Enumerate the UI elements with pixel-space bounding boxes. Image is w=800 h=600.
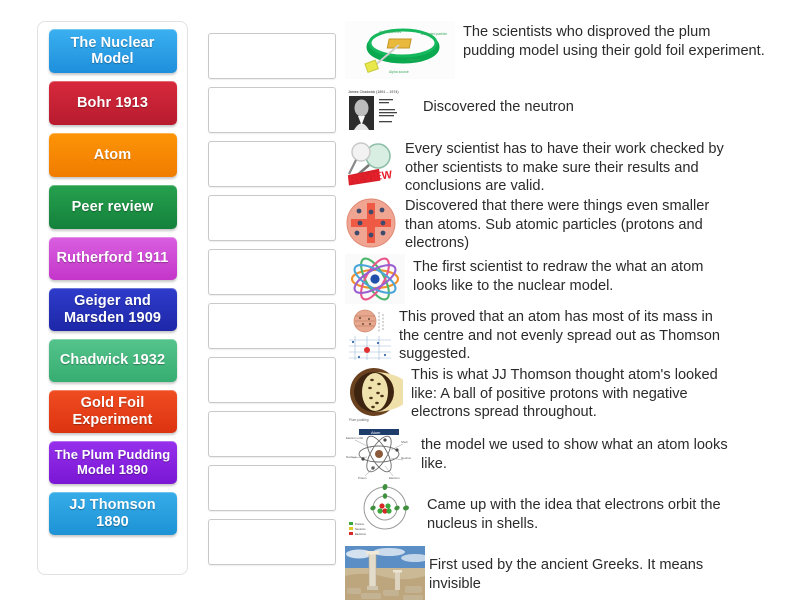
answer-text: Discovered the neutron — [415, 86, 715, 117]
svg-text:Nucleus: Nucleus — [346, 455, 357, 459]
answer-text: Discovered that there were things even s… — [397, 197, 727, 253]
svg-text:Neutrons: Neutrons — [355, 527, 366, 531]
svg-text:Electron orbit: Electron orbit — [346, 436, 363, 440]
answer-text: Every scientist has to have their work c… — [397, 140, 727, 196]
svg-text:Alpha particles: Alpha particles — [379, 30, 402, 34]
dropzone-10[interactable] — [208, 519, 336, 565]
ancient-greek-ruins-image — [345, 546, 425, 600]
answer-item-6[interactable]: This proved that an atom has most of its… — [345, 308, 785, 364]
tile-bohr-1913[interactable]: Bohr 1913 — [49, 81, 177, 125]
tile-the-nuclear-model[interactable]: The Nuclear Model — [49, 29, 177, 73]
answer-item-4[interactable]: Discovered that there were things even s… — [345, 197, 785, 252]
dropzone-7[interactable] — [208, 357, 336, 403]
answer-text: The scientists who disproved the plum pu… — [455, 21, 765, 60]
answer-text: The first scientist to redraw the what a… — [405, 254, 735, 295]
answer-text: Came up with the idea that electrons orb… — [419, 484, 739, 533]
answer-text: This is what JJ Thomson thought atom's l… — [403, 366, 743, 422]
plum-pudding-cake-image: Plum pudding — [345, 366, 403, 424]
answer-text: the model we used to show what an atom l… — [413, 428, 733, 473]
answer-list: Alpha particles Deflected particle Gold … — [345, 21, 785, 581]
gold-foil-experiment-diagram-image: Alpha particles Deflected particle Gold … — [345, 21, 455, 79]
tile-label: Geiger and Marsden 1909 — [54, 293, 172, 325]
peer-review-magnifier-image: REVIEW — [345, 140, 397, 192]
answer-item-10[interactable]: First used by the ancient Greeks. It mea… — [345, 546, 785, 600]
tile-label: JJ Thomson 1890 — [54, 497, 172, 529]
svg-text:Atom: Atom — [371, 430, 381, 435]
tile-label: Atom — [94, 147, 131, 163]
dropzone-2[interactable] — [208, 87, 336, 133]
svg-text:Electron: Electron — [389, 476, 400, 480]
answer-item-2[interactable]: James Chadwick (1891 – 1974) Disco — [345, 86, 785, 138]
tile-label: Gold Foil Experiment — [54, 395, 172, 427]
answer-item-3[interactable]: REVIEW Every scientist has to have their… — [345, 140, 785, 195]
svg-text:Neutron: Neutron — [401, 456, 412, 460]
tile-label: Rutherford 1911 — [57, 250, 169, 266]
tile-label: Peer review — [72, 199, 154, 215]
tile-label: The Plum Pudding Model 1890 — [54, 448, 172, 477]
labelled-atom-diagram-image: Atom — [345, 428, 413, 480]
svg-text:Shell: Shell — [401, 440, 408, 444]
dropzone-5[interactable] — [208, 249, 336, 295]
james-chadwick-portrait-image: James Chadwick (1891 – 1974) — [345, 86, 415, 134]
svg-text:Proton: Proton — [358, 476, 367, 480]
dropzone-3[interactable] — [208, 141, 336, 187]
answer-item-7[interactable]: Plum pudding This is what JJ Thomson tho… — [345, 366, 785, 426]
tile-chadwick-1932[interactable]: Chadwick 1932 — [49, 339, 177, 382]
svg-text:Gold foil: Gold foil — [407, 58, 420, 62]
tile-the-plum-pudding-model-1890[interactable]: The Plum Pudding Model 1890 — [49, 441, 177, 484]
dropzone-1[interactable] — [208, 33, 336, 79]
tile-jj-thomson-1890[interactable]: JJ Thomson 1890 — [49, 492, 177, 535]
answer-text: This proved that an atom has most of its… — [395, 308, 735, 364]
tile-gold-foil-experiment[interactable]: Gold Foil Experiment — [49, 390, 177, 433]
tile-label: Chadwick 1932 — [60, 352, 165, 368]
answer-item-8[interactable]: Atom — [345, 428, 785, 482]
answer-text: First used by the ancient Greeks. It mea… — [425, 546, 745, 593]
svg-text:James Chadwick (1891 – 1974): James Chadwick (1891 – 1974) — [348, 90, 399, 94]
tile-geiger-and-marsden-1909[interactable]: Geiger and Marsden 1909 — [49, 288, 177, 331]
svg-text:Deflected particle: Deflected particle — [421, 32, 447, 36]
svg-text:Alpha source: Alpha source — [389, 70, 409, 74]
tile-label: Bohr 1913 — [77, 95, 148, 111]
answer-item-1[interactable]: Alpha particles Deflected particle Gold … — [345, 21, 785, 83]
dropzone-4[interactable] — [208, 195, 336, 241]
tile-label: The Nuclear Model — [54, 35, 172, 67]
dropzone-8[interactable] — [208, 411, 336, 457]
rutherford-scattering-diagram-image — [345, 308, 395, 362]
dropzone-column — [208, 21, 338, 575]
dropzone-9[interactable] — [208, 465, 336, 511]
svg-text:Protons: Protons — [355, 522, 365, 526]
colorful-atom-orbit-image — [345, 254, 405, 304]
tile-atom[interactable]: Atom — [49, 133, 177, 177]
dropzone-6[interactable] — [208, 303, 336, 349]
draggable-tiles-panel: The Nuclear Model Bohr 1913 Atom Peer re… — [37, 21, 188, 575]
answer-item-5[interactable]: The first scientist to redraw the what a… — [345, 254, 785, 306]
answer-item-9[interactable]: Protons Neutrons Electrons Came up with … — [345, 484, 785, 544]
subatomic-particles-circle-image — [345, 197, 397, 249]
bohr-shell-model-image: Protons Neutrons Electrons — [345, 484, 419, 540]
tile-rutherford-1911[interactable]: Rutherford 1911 — [49, 237, 177, 280]
match-up-activity: The Nuclear Model Bohr 1913 Atom Peer re… — [0, 0, 800, 600]
svg-text:Electrons: Electrons — [355, 532, 367, 536]
tile-peer-review[interactable]: Peer review — [49, 185, 177, 229]
svg-text:Plum pudding: Plum pudding — [349, 418, 369, 422]
